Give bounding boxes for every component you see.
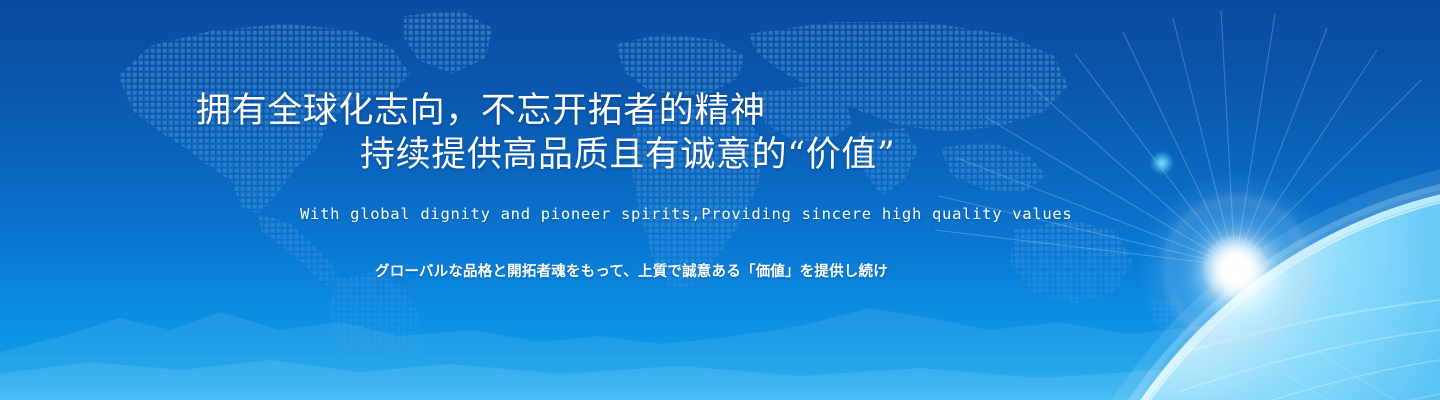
lens-flare-dot-icon [1150, 151, 1174, 175]
sun-core-icon [1203, 236, 1267, 300]
subtitle-japanese: グローバルな品格と開拓者魂をもって、上質で誠意ある「価値」を提供し続け [375, 260, 888, 281]
hero-banner: 拥有全球化志向，不忘开拓者的精神 持续提供高品质且有诚意的“价值” With g… [0, 0, 1440, 400]
lens-flare-halo-icon [1163, 196, 1311, 344]
subtitle-english: With global dignity and pioneer spirits,… [300, 205, 1072, 223]
sun-glow-icon [1128, 162, 1348, 382]
headline-line-2: 持续提供高品质且有诚意的“价值” [360, 132, 895, 178]
headline-line-1: 拥有全球化志向，不忘开拓者的精神 [196, 88, 766, 134]
hero-text-block: 拥有全球化志向，不忘开拓者的精神 持续提供高品质且有诚意的“价值” With g… [0, 0, 1130, 400]
